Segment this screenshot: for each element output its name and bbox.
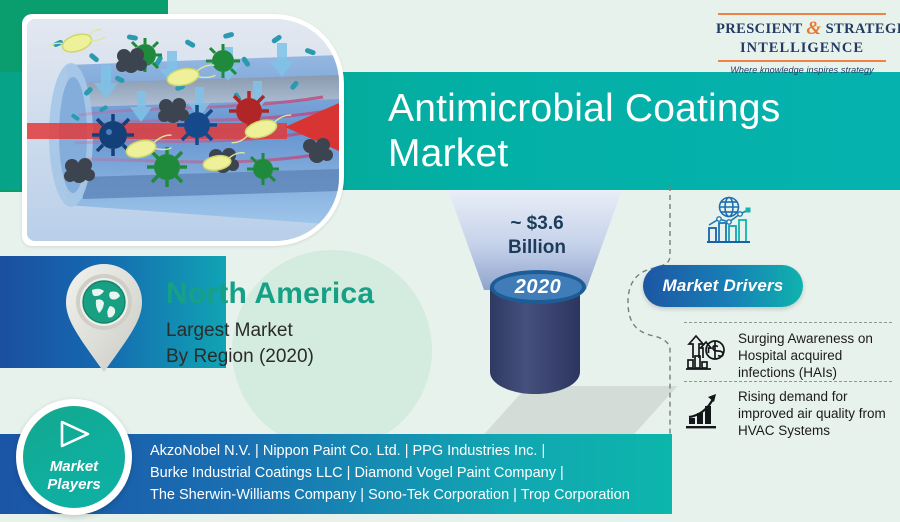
driver-text-2: Rising demand for improved air quality f… bbox=[738, 388, 896, 439]
logo-rule-top bbox=[718, 13, 886, 15]
driver-separator-2 bbox=[684, 381, 892, 382]
logo-rule-bottom bbox=[718, 60, 886, 62]
players-badge-line-1: Market bbox=[50, 458, 98, 475]
logo-word-prescient: PRESCIENT bbox=[716, 21, 802, 37]
market-size-year: 2020 bbox=[490, 270, 586, 304]
infographic-canvas: PRESCIENT & STRATEGIC INTELLIGENCE Where… bbox=[0, 0, 900, 522]
logo-line-2: INTELLIGENCE bbox=[716, 40, 888, 57]
market-size-amount: ~ $3.6 bbox=[510, 213, 563, 234]
region-subtitle-line-2: By Region (2020) bbox=[166, 344, 314, 370]
market-drivers-badge[interactable]: Market Drivers bbox=[643, 265, 803, 307]
pipe-illustration-svg bbox=[27, 19, 339, 241]
page-title-line-1: Antimicrobial Coatings bbox=[388, 86, 858, 131]
players-line-1: AkzoNobel N.V. | Nippon Paint Co. Ltd. |… bbox=[150, 440, 670, 462]
growth-arrow-icon bbox=[684, 388, 728, 432]
driver-item-1: Surging Awareness on Hospital acquired i… bbox=[684, 330, 896, 381]
growth-globe-icon bbox=[700, 196, 758, 244]
region-subtitle: Largest Market By Region (2020) bbox=[166, 318, 314, 370]
logo-line-1: PRESCIENT & STRATEGIC bbox=[716, 18, 888, 40]
driver-item-2: Rising demand for improved air quality f… bbox=[684, 388, 896, 439]
pipe-illustration-frame bbox=[22, 14, 344, 246]
market-size-value: ~ $3.6 Billion bbox=[452, 212, 622, 260]
players-line-3: The Sherwin-Williams Company | Sono-Tek … bbox=[150, 484, 670, 506]
play-triangle-icon bbox=[54, 419, 94, 454]
market-size-unit: Billion bbox=[508, 237, 566, 258]
hospital-cost-icon bbox=[684, 330, 728, 374]
market-players-label: Market Players bbox=[47, 458, 100, 494]
logo-tagline: Where knowledge inspires strategy bbox=[716, 65, 888, 75]
logo-ampersand: & bbox=[806, 18, 821, 39]
page-title: Antimicrobial Coatings Market bbox=[388, 86, 858, 176]
market-players-badge-inner: Market Players bbox=[23, 406, 125, 508]
page-title-line-2: Market bbox=[388, 131, 858, 176]
players-badge-line-2: Players bbox=[47, 476, 100, 493]
logo-word-strategic: STRATEGIC bbox=[826, 21, 900, 37]
pipe-illustration bbox=[27, 19, 339, 241]
region-subtitle-line-1: Largest Market bbox=[166, 318, 314, 344]
market-players-list: AkzoNobel N.V. | Nippon Paint Co. Ltd. |… bbox=[150, 440, 670, 506]
company-logo: PRESCIENT & STRATEGIC INTELLIGENCE Where… bbox=[716, 10, 888, 75]
driver-text-1: Surging Awareness on Hospital acquired i… bbox=[738, 330, 896, 381]
players-line-2: Burke Industrial Coatings LLC | Diamond … bbox=[150, 462, 670, 484]
market-players-badge[interactable]: Market Players bbox=[16, 399, 132, 515]
map-pin-icon bbox=[62, 262, 146, 374]
market-drivers-label: Market Drivers bbox=[663, 276, 784, 296]
region-name: North America bbox=[166, 277, 374, 311]
driver-separator-1 bbox=[684, 322, 892, 323]
